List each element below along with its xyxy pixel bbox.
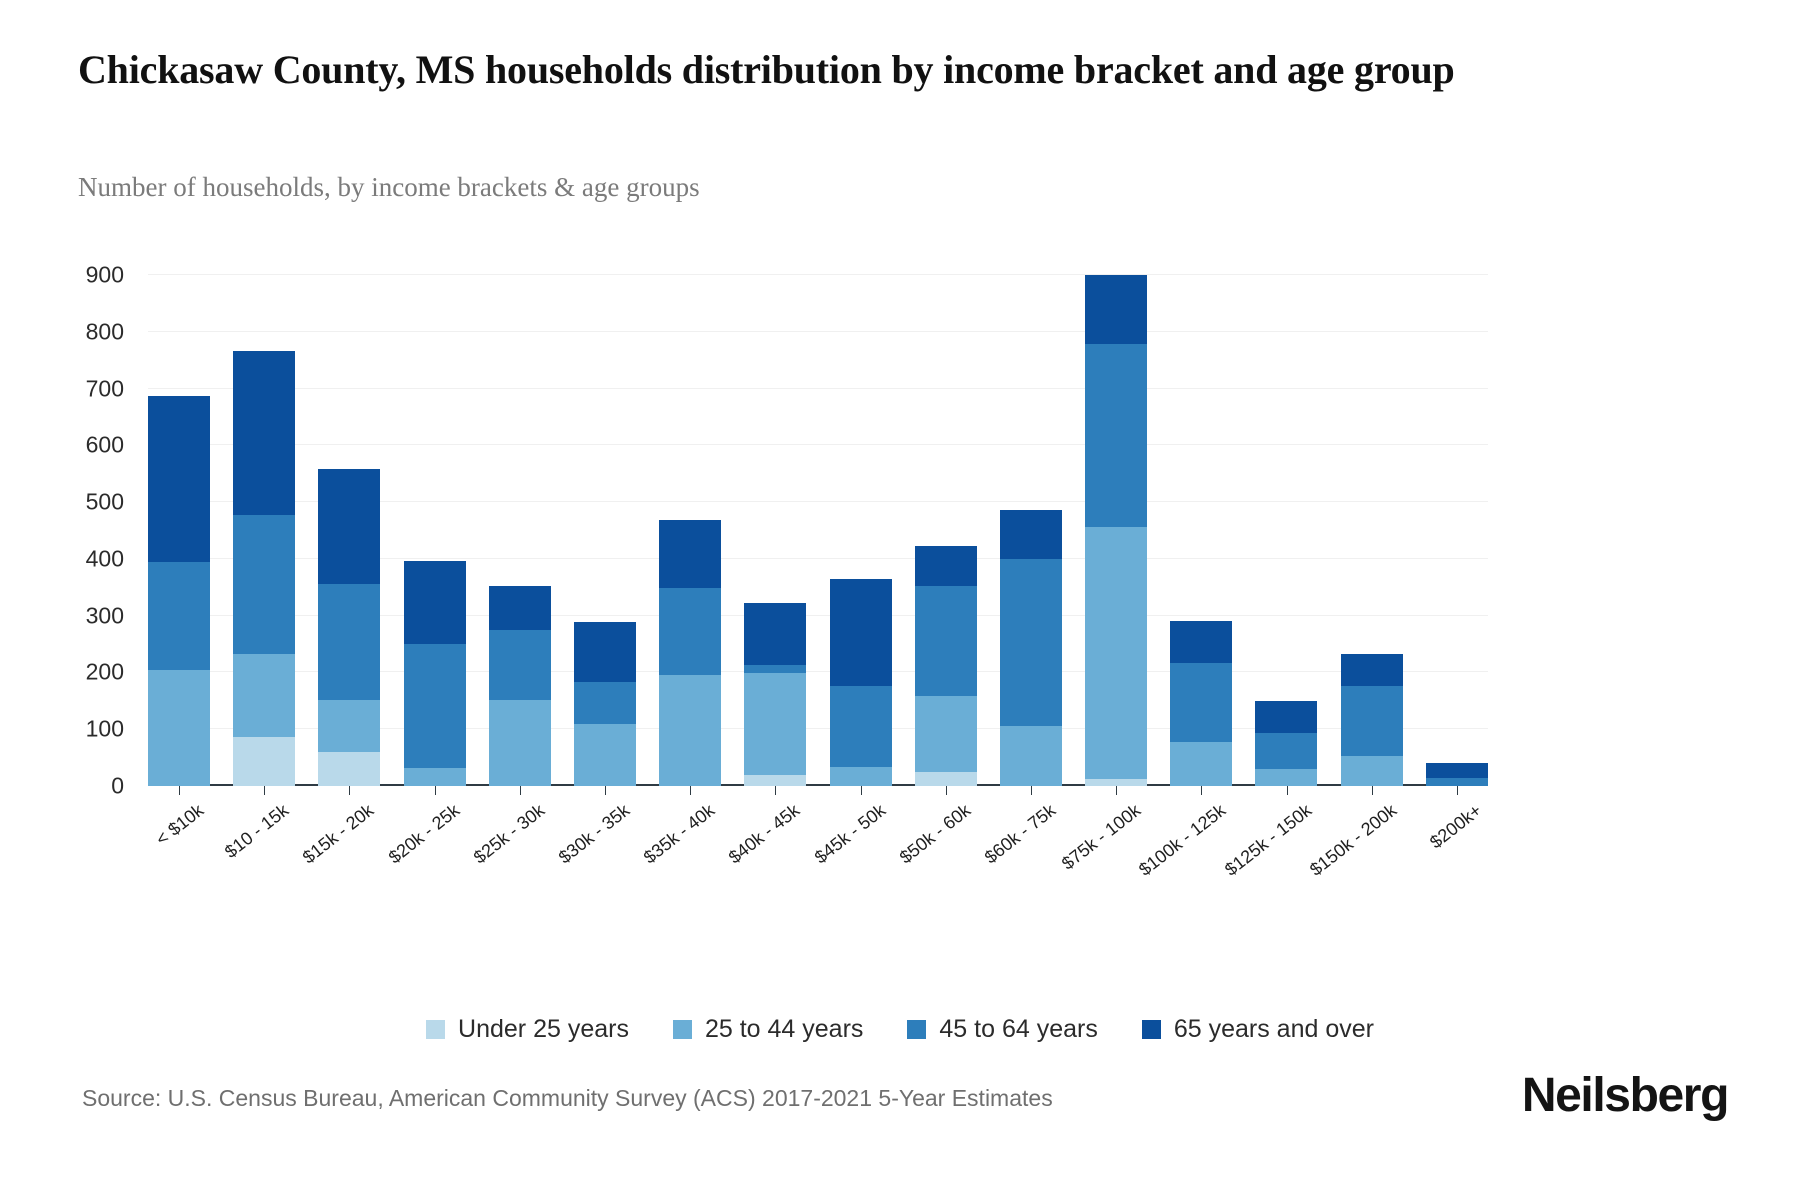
- bar-segment[interactable]: [1341, 756, 1403, 786]
- chart-subtitle: Number of households, by income brackets…: [78, 172, 1478, 203]
- y-axis-tick-label: 800: [86, 318, 124, 345]
- bar-segment[interactable]: [489, 630, 551, 699]
- bar-column[interactable]: [830, 275, 892, 786]
- x-axis-tick: [861, 786, 862, 795]
- x-axis-tick: [1372, 786, 1373, 795]
- chart-page: Chickasaw County, MS households distribu…: [0, 0, 1800, 1200]
- x-axis-tick-label: $45k - 50k: [810, 800, 889, 868]
- x-axis-tick: [775, 786, 776, 795]
- x-axis-tick: [1457, 786, 1458, 795]
- bar-segment[interactable]: [1255, 733, 1317, 769]
- bar-column[interactable]: [1000, 275, 1062, 786]
- bar-segment[interactable]: [1170, 663, 1232, 742]
- x-axis-tick-label: $20k - 25k: [384, 800, 463, 868]
- bar-segment[interactable]: [744, 603, 806, 665]
- bar-segment[interactable]: [233, 515, 295, 654]
- bar-segment[interactable]: [489, 586, 551, 631]
- x-axis-tick-label: $150k - 200k: [1306, 800, 1401, 881]
- bar-segment[interactable]: [830, 767, 892, 786]
- x-axis-tick: [690, 786, 691, 795]
- bar-segment[interactable]: [404, 561, 466, 643]
- bar-column[interactable]: [1170, 275, 1232, 786]
- y-axis-tick-label: 700: [86, 375, 124, 402]
- x-axis-tick-label: $35k - 40k: [640, 800, 719, 868]
- x-axis-tick-label: $75k - 100k: [1058, 800, 1145, 874]
- x-axis-tick: [1031, 786, 1032, 795]
- chart-legend: Under 25 years25 to 44 years45 to 64 yea…: [0, 1015, 1800, 1044]
- bar-segment[interactable]: [233, 351, 295, 515]
- y-axis-tick-label: 400: [86, 545, 124, 572]
- bar-segment[interactable]: [1085, 527, 1147, 779]
- bar-segment[interactable]: [659, 588, 721, 674]
- x-axis-tick: [946, 786, 947, 795]
- x-axis-labels: < $10k$10 - 15k$15k - 20k$20k - 25k$25k …: [148, 800, 1488, 920]
- y-axis-labels: 0100200300400500600700800900: [0, 275, 140, 786]
- x-axis-tick-label: $10 - 15k: [221, 800, 293, 863]
- bar-column[interactable]: [318, 275, 380, 786]
- x-axis-tick-label: $50k - 60k: [896, 800, 975, 868]
- bar-segment[interactable]: [830, 579, 892, 686]
- legend-label: Under 25 years: [458, 1015, 629, 1044]
- bar-segment[interactable]: [830, 686, 892, 768]
- bar-column[interactable]: [744, 275, 806, 786]
- bar-segment[interactable]: [148, 670, 210, 786]
- bar-segment[interactable]: [915, 772, 977, 786]
- legend-item[interactable]: Under 25 years: [426, 1015, 629, 1044]
- bar-segment[interactable]: [744, 775, 806, 786]
- y-axis-tick-label: 900: [86, 262, 124, 289]
- bar-column[interactable]: [574, 275, 636, 786]
- bar-segment[interactable]: [574, 724, 636, 786]
- x-axis-tick-label: $100k - 125k: [1135, 800, 1230, 881]
- bar-segment[interactable]: [1426, 778, 1488, 786]
- bar-segment[interactable]: [404, 768, 466, 786]
- bar-segment[interactable]: [404, 644, 466, 769]
- page-title: Chickasaw County, MS households distribu…: [78, 46, 1718, 93]
- legend-swatch-icon: [673, 1020, 692, 1039]
- x-axis-tick-label: $60k - 75k: [981, 800, 1060, 868]
- bar-segment[interactable]: [1255, 769, 1317, 786]
- y-axis-tick-label: 200: [86, 659, 124, 686]
- x-axis-tick-label: < $10k: [152, 800, 208, 850]
- x-axis-tick: [1116, 786, 1117, 795]
- bar-segment[interactable]: [1426, 763, 1488, 778]
- x-axis-tick: [435, 786, 436, 795]
- y-axis-tick-label: 300: [86, 602, 124, 629]
- bar-segment[interactable]: [318, 700, 380, 752]
- bar-segment[interactable]: [1085, 779, 1147, 786]
- bar-segment[interactable]: [1000, 559, 1062, 726]
- x-axis-tick-label: $30k - 35k: [555, 800, 634, 868]
- bar-column[interactable]: [659, 275, 721, 786]
- x-axis-tick: [179, 786, 180, 795]
- y-axis-tick-label: 500: [86, 489, 124, 516]
- x-axis-tick-label: $25k - 30k: [470, 800, 549, 868]
- y-axis-tick-label: 0: [111, 773, 124, 800]
- bar-segment[interactable]: [318, 469, 380, 584]
- legend-label: 45 to 64 years: [939, 1015, 1097, 1044]
- bar-segment[interactable]: [744, 665, 806, 674]
- legend-swatch-icon: [426, 1020, 445, 1039]
- bar-segment[interactable]: [1000, 726, 1062, 786]
- legend-item[interactable]: 45 to 64 years: [907, 1015, 1097, 1044]
- bar-series-container: [148, 275, 1488, 786]
- bar-column[interactable]: [1085, 275, 1147, 786]
- bar-segment[interactable]: [318, 584, 380, 700]
- bar-segment[interactable]: [574, 682, 636, 723]
- bar-segment[interactable]: [148, 396, 210, 562]
- brand-logo: Neilsberg: [1522, 1068, 1728, 1123]
- x-axis-tick: [349, 786, 350, 795]
- bar-column[interactable]: [915, 275, 977, 786]
- legend-item[interactable]: 65 years and over: [1142, 1015, 1374, 1044]
- bar-segment[interactable]: [915, 586, 977, 696]
- bar-segment[interactable]: [659, 520, 721, 588]
- x-axis-tick-label: $40k - 45k: [725, 800, 804, 868]
- legend-swatch-icon: [907, 1020, 926, 1039]
- bar-segment[interactable]: [915, 546, 977, 585]
- bar-segment[interactable]: [318, 752, 380, 786]
- x-axis-tick: [264, 786, 265, 795]
- bar-segment[interactable]: [1341, 686, 1403, 757]
- bar-segment[interactable]: [148, 562, 210, 670]
- bar-column[interactable]: [1255, 275, 1317, 786]
- bar-segment[interactable]: [1085, 344, 1147, 527]
- y-axis-tick-label: 600: [86, 432, 124, 459]
- x-axis-ticks: [148, 786, 1488, 796]
- bar-segment[interactable]: [1255, 701, 1317, 733]
- x-axis-tick: [1287, 786, 1288, 795]
- bar-segment[interactable]: [744, 673, 806, 775]
- bar-segment[interactable]: [1170, 621, 1232, 662]
- plot-area: [148, 275, 1488, 786]
- x-axis-tick: [605, 786, 606, 795]
- bar-segment[interactable]: [233, 737, 295, 786]
- bar-segment[interactable]: [233, 654, 295, 737]
- source-note: Source: U.S. Census Bureau, American Com…: [82, 1085, 1053, 1112]
- bar-column[interactable]: [489, 275, 551, 786]
- bar-column[interactable]: [1426, 275, 1488, 786]
- legend-swatch-icon: [1142, 1020, 1161, 1039]
- bar-segment[interactable]: [1170, 742, 1232, 786]
- bar-segment[interactable]: [1341, 654, 1403, 686]
- bar-segment[interactable]: [659, 675, 721, 786]
- bar-column[interactable]: [148, 275, 210, 786]
- bar-segment[interactable]: [574, 622, 636, 682]
- legend-label: 65 years and over: [1174, 1015, 1374, 1044]
- legend-label: 25 to 44 years: [705, 1015, 863, 1044]
- x-axis-tick: [1201, 786, 1202, 795]
- x-axis-tick: [520, 786, 521, 795]
- bar-segment[interactable]: [1000, 510, 1062, 559]
- bar-column[interactable]: [1341, 275, 1403, 786]
- x-axis-tick-label: $125k - 150k: [1221, 800, 1316, 881]
- x-axis-tick-label: $15k - 20k: [299, 800, 378, 868]
- legend-item[interactable]: 25 to 44 years: [673, 1015, 863, 1044]
- x-axis-tick-label: $200k+: [1426, 800, 1486, 853]
- bar-column[interactable]: [404, 275, 466, 786]
- bar-column[interactable]: [233, 275, 295, 786]
- bar-segment[interactable]: [489, 700, 551, 786]
- y-axis-tick-label: 100: [86, 716, 124, 743]
- bar-segment[interactable]: [915, 696, 977, 773]
- bar-segment[interactable]: [1085, 275, 1147, 344]
